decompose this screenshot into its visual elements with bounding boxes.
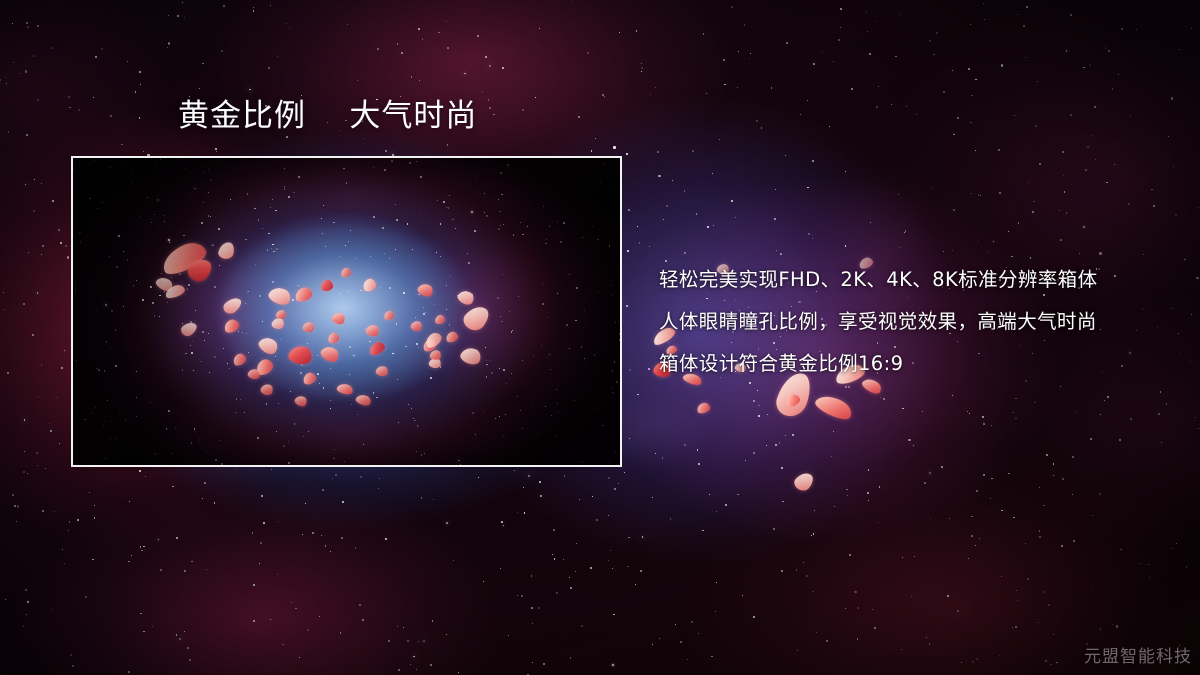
body-line-3: 箱体设计符合黄金比例16:9 <box>659 343 1097 385</box>
preview-vignette <box>73 158 620 465</box>
presentation-slide: 黄金比例 大气时尚 轻松完美实现FHD、2K、4K、8K标准分辨率箱体 人体眼睛… <box>0 0 1200 675</box>
body-line-1: 轻松完美实现FHD、2K、4K、8K标准分辨率箱体 <box>659 259 1097 301</box>
preview-image-frame <box>71 156 622 467</box>
body-line-2: 人体眼睛瞳孔比例，享受视觉效果，高端大气时尚 <box>659 301 1097 343</box>
page-title: 黄金比例 大气时尚 <box>178 101 477 132</box>
body-copy: 轻松完美实现FHD、2K、4K、8K标准分辨率箱体 人体眼睛瞳孔比例，享受视觉效… <box>659 259 1097 385</box>
watermark: 元盟智能科技 <box>1084 642 1192 667</box>
